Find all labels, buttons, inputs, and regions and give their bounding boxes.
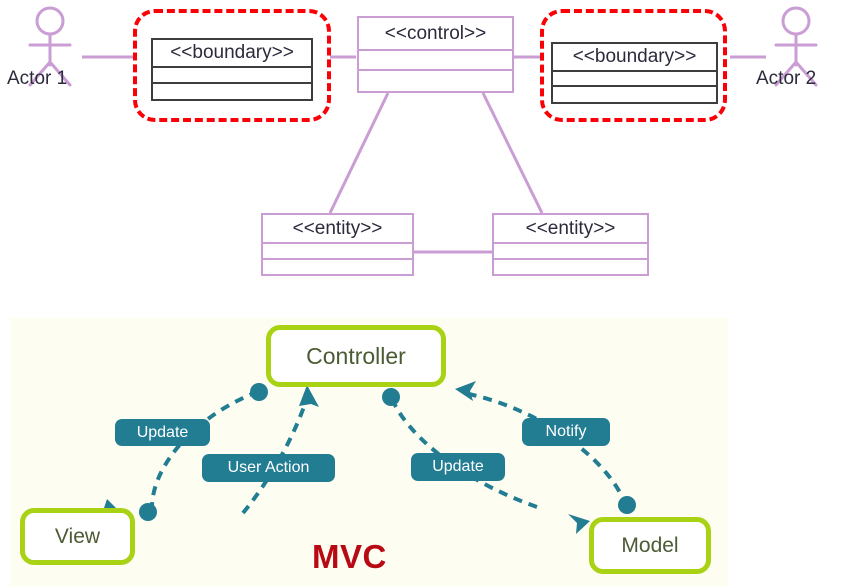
mvc-badge-notify-label: Notify xyxy=(546,423,587,441)
edge-endpoint-dots xyxy=(139,383,636,521)
uml-box-entity-left-attrs xyxy=(263,242,412,258)
uml-box-control[interactable]: <<control>> xyxy=(357,16,514,93)
actor-1-label: Actor 1 xyxy=(7,68,67,90)
uml-box-entity-left-ops xyxy=(263,258,412,274)
uml-box-control-ops xyxy=(359,69,512,91)
uml-box-entity-right-ops xyxy=(494,258,647,274)
uml-box-boundary-left-label: <<boundary>> xyxy=(153,40,311,66)
mvc-badge-update-view-controller-label: Update xyxy=(137,424,189,442)
arrow-into-controller-action xyxy=(299,385,319,407)
mvc-node-controller[interactable]: Controller xyxy=(266,325,446,387)
uml-box-entity-left-label: <<entity>> xyxy=(263,215,412,242)
uml-box-boundary-left-ops xyxy=(153,82,311,99)
actor-2-label: Actor 2 xyxy=(756,68,816,90)
mvc-badge-update-controller-model-label: Update xyxy=(432,458,484,476)
mvc-badge-user-action-label: User Action xyxy=(228,459,310,477)
uml-box-boundary-right-label: <<boundary>> xyxy=(553,44,716,70)
mvc-node-model-label: Model xyxy=(621,534,678,558)
mvc-node-model[interactable]: Model xyxy=(589,517,711,574)
uml-box-boundary-left-attrs xyxy=(153,66,311,82)
arrow-into-controller-notify xyxy=(455,381,476,401)
uml-box-control-label: <<control>> xyxy=(359,18,512,49)
uml-box-boundary-right[interactable]: <<boundary>> xyxy=(551,42,718,104)
link-control-entity-right xyxy=(483,93,542,213)
uml-box-entity-right[interactable]: <<entity>> xyxy=(492,213,649,276)
mvc-title: MVC xyxy=(312,538,387,576)
dot-controller-update-src xyxy=(382,388,400,406)
uml-box-control-attrs xyxy=(359,49,512,69)
mvc-badge-update-controller-model[interactable]: Update xyxy=(411,453,505,481)
edge-model-to-controller-notify xyxy=(464,393,626,506)
uml-box-boundary-left[interactable]: <<boundary>> xyxy=(151,38,313,101)
uml-box-entity-right-label: <<entity>> xyxy=(494,215,647,242)
mvc-node-view-label: View xyxy=(55,525,100,549)
arrow-into-model xyxy=(568,514,590,534)
link-control-entity-left xyxy=(330,93,388,213)
mvc-badge-update-view-controller[interactable]: Update xyxy=(115,419,210,446)
edge-arrowheads xyxy=(100,381,590,534)
edge-view-to-controller-update xyxy=(152,394,252,511)
mvc-node-view[interactable]: View xyxy=(20,508,135,565)
dot-view-update-source xyxy=(139,503,157,521)
uml-box-entity-left[interactable]: <<entity>> xyxy=(261,213,414,276)
mvc-badge-notify[interactable]: Notify xyxy=(522,418,610,446)
mvc-badge-user-action[interactable]: User Action xyxy=(202,454,335,482)
uml-box-boundary-right-ops xyxy=(553,85,716,102)
dot-model-notify-source xyxy=(618,496,636,514)
mvc-node-controller-label: Controller xyxy=(306,343,406,370)
dot-controller-left xyxy=(250,383,268,401)
uml-box-entity-right-attrs xyxy=(494,242,647,258)
uml-box-boundary-right-attrs xyxy=(553,70,716,85)
